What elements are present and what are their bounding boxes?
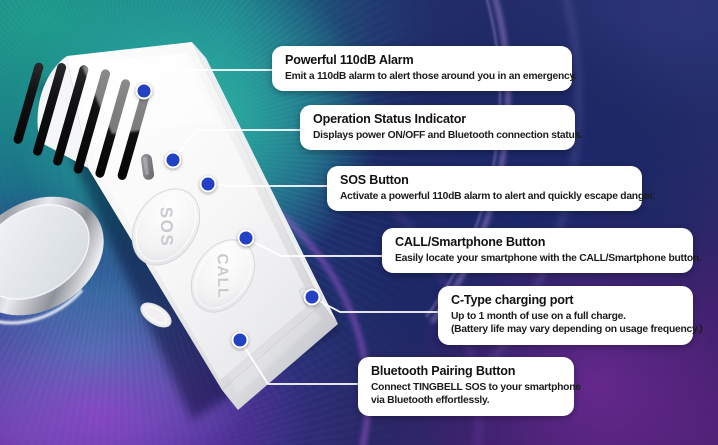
callout-alarm-title: Powerful 110dB Alarm [285,53,559,69]
infographic-canvas: SOS CALL [0,0,718,445]
callout-call-button-title: CALL/Smartphone Button [395,235,680,251]
callout-charging-port-desc: Up to 1 month of use on a full charge. [451,310,680,324]
callout-bluetooth-pairing: Bluetooth Pairing Button Connect TINGBEL… [358,357,574,416]
connector-alarm [144,70,272,91]
callout-status-indicator-desc: Displays power ON/OFF and Bluetooth conn… [313,129,562,143]
hotspot-dot-sos-button[interactable] [200,176,217,193]
connector-status [173,130,300,160]
connector-port [312,297,438,312]
callout-charging-port-title: C-Type charging port [451,293,680,309]
callout-call-button: CALL/Smartphone Button Easily locate you… [382,228,693,273]
callout-sos-button: SOS Button Activate a powerful 110dB ala… [327,166,642,211]
callout-sos-button-title: SOS Button [340,173,629,189]
connector-sos [208,184,327,186]
hotspot-dot-charging-port[interactable] [304,289,321,306]
callout-status-indicator-title: Operation Status Indicator [313,112,562,128]
connector-bluetooth [240,340,358,384]
hotspot-dot-status-indicator[interactable] [165,152,182,169]
hotspot-dot-call-button[interactable] [238,230,255,247]
callout-status-indicator: Operation Status Indicator Displays powe… [300,105,575,150]
callout-bluetooth-pairing-desc: Connect TINGBELL SOS to your smartphone [371,381,561,395]
callout-call-button-desc: Easily locate your smartphone with the C… [395,252,680,266]
callout-charging-port: C-Type charging port Up to 1 month of us… [438,286,693,345]
connector-call [246,238,382,256]
hotspot-dot-alarm[interactable] [136,83,153,100]
callout-bluetooth-pairing-title: Bluetooth Pairing Button [371,364,561,380]
hotspot-dot-bluetooth-pairing[interactable] [232,332,249,349]
callout-alarm: Powerful 110dB Alarm Emit a 110dB alarm … [272,46,572,91]
callout-bluetooth-pairing-desc-2: via Bluetooth effortlessly. [371,394,561,408]
callout-charging-port-desc-2: (Battery life may vary depending on usag… [451,323,680,337]
callout-alarm-desc: Emit a 110dB alarm to alert those around… [285,70,559,84]
callout-sos-button-desc: Activate a powerful 110dB alarm to alert… [340,190,629,204]
